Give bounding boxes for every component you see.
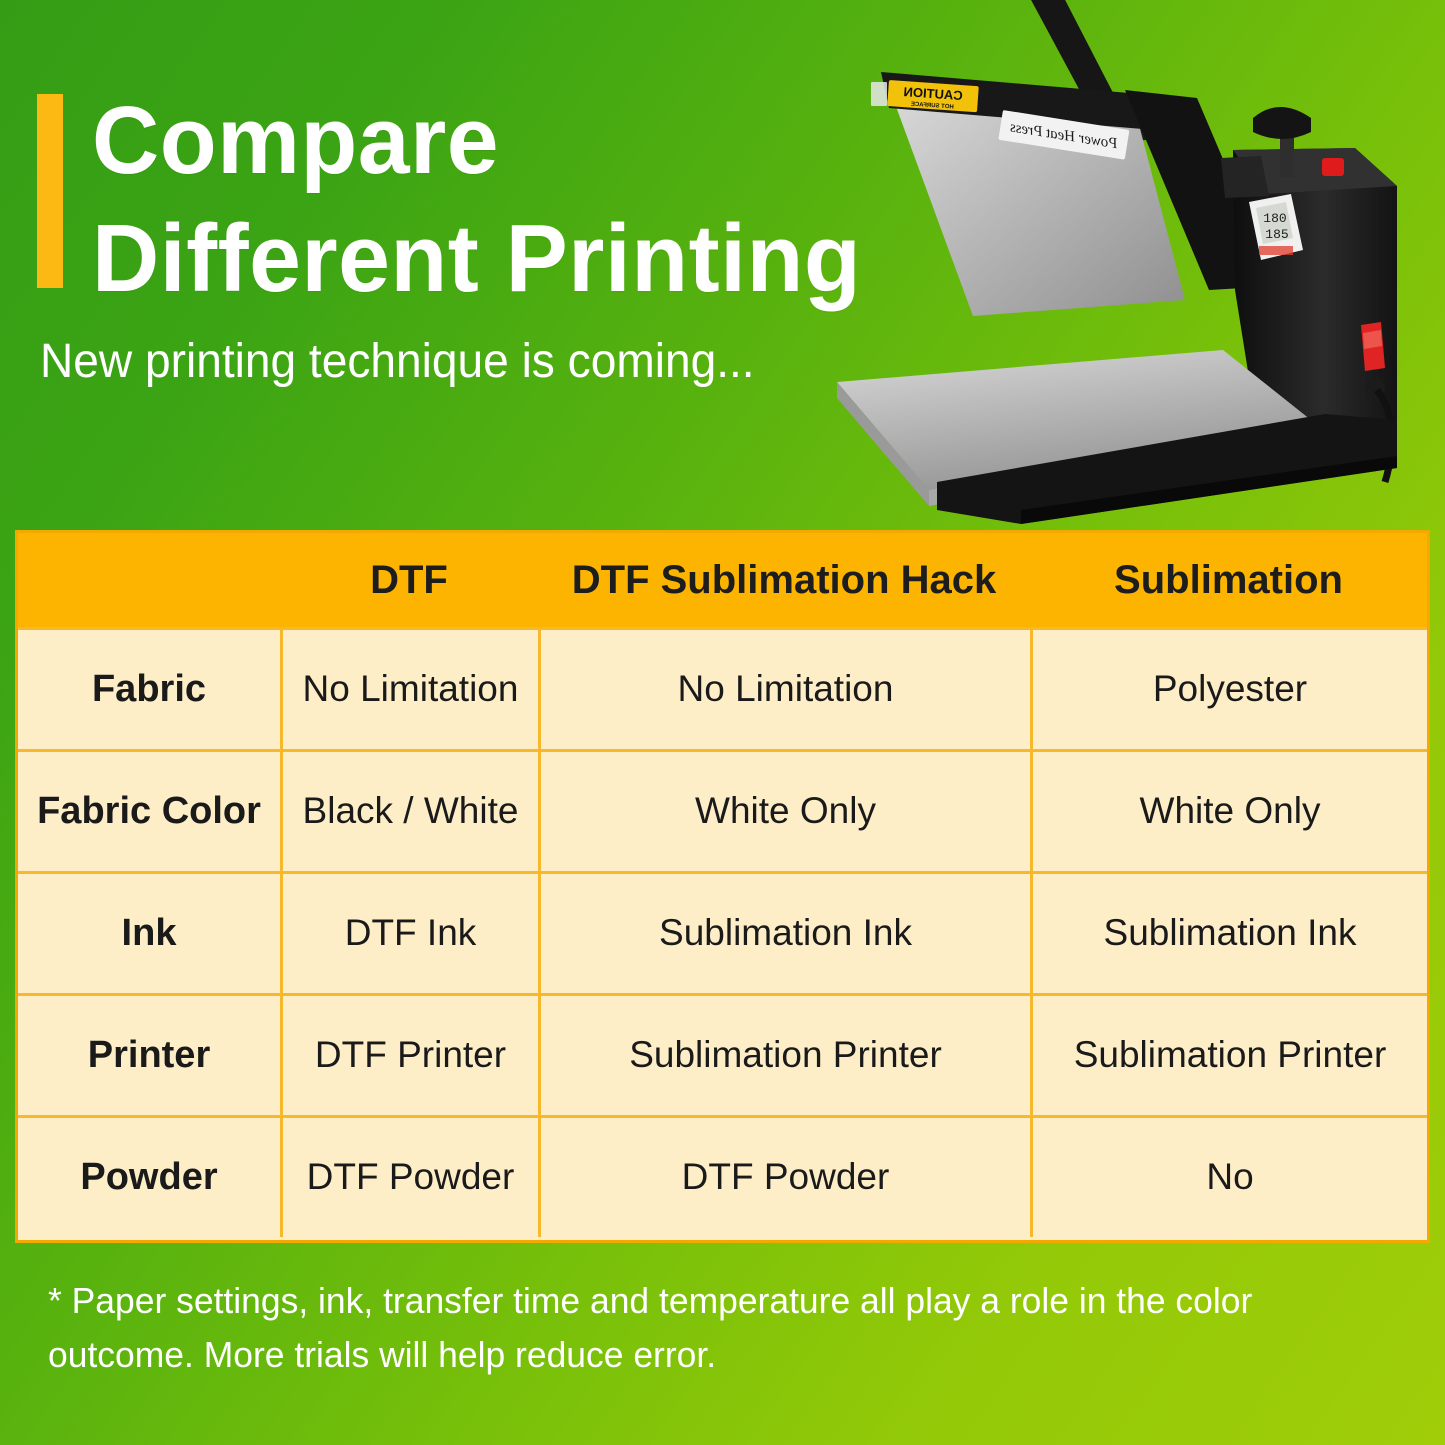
title-accent-bar <box>37 94 63 288</box>
temperature-readout: 180 <box>1263 211 1286 226</box>
row-value-sublimation: Sublimation Ink <box>1030 874 1427 993</box>
table-header-sublimation: Sublimation <box>1030 533 1427 627</box>
row-value-sublimation: Polyester <box>1030 630 1427 749</box>
row-label: Powder <box>18 1118 280 1237</box>
table-row: Printer DTF Printer Sublimation Printer … <box>18 993 1427 1115</box>
table-header-row: DTF DTF Sublimation Hack Sublimation <box>18 533 1427 627</box>
infographic-poster: Compare Different Printing New printing … <box>0 0 1445 1445</box>
hero-section: Compare Different Printing New printing … <box>0 0 1445 530</box>
row-value-sublimation: White Only <box>1030 752 1427 871</box>
footnote-text: * Paper settings, ink, transfer time and… <box>48 1274 1368 1382</box>
row-label: Fabric <box>18 630 280 749</box>
comparison-table: DTF DTF Sublimation Hack Sublimation Fab… <box>15 530 1430 1243</box>
row-value-hack: White Only <box>538 752 1030 871</box>
press-body-shoulder <box>1221 156 1269 198</box>
row-value-sublimation: No <box>1030 1118 1427 1237</box>
row-value-dtf: DTF Powder <box>280 1118 538 1237</box>
row-label: Fabric Color <box>18 752 280 871</box>
heat-press-machine-image: CAUTION HOT SURFACE Power Heat Press <box>825 0 1445 535</box>
table-header-dtf: DTF <box>280 533 538 627</box>
row-value-dtf: Black / White <box>280 752 538 871</box>
row-value-hack: DTF Powder <box>538 1118 1030 1237</box>
table-header-corner <box>18 533 280 627</box>
row-value-hack: Sublimation Ink <box>538 874 1030 993</box>
indicator-light <box>1322 158 1344 176</box>
row-value-hack: No Limitation <box>538 630 1030 749</box>
timer-readout: 185 <box>1265 227 1288 242</box>
heat-press-graphic: CAUTION HOT SURFACE Power Heat Press <box>825 0 1445 535</box>
row-value-hack: Sublimation Printer <box>538 996 1030 1115</box>
table-header-dtf-sublimation-hack: DTF Sublimation Hack <box>538 533 1030 627</box>
table-row: Powder DTF Powder DTF Powder No <box>18 1115 1427 1237</box>
row-label: Printer <box>18 996 280 1115</box>
row-value-dtf: DTF Printer <box>280 996 538 1115</box>
table-row: Fabric Color Black / White White Only Wh… <box>18 749 1427 871</box>
panel-brand-strip <box>1259 246 1293 255</box>
pressure-knob <box>1253 107 1311 139</box>
power-switch-glow <box>1363 330 1382 349</box>
row-value-sublimation: Sublimation Printer <box>1030 996 1427 1115</box>
row-label: Ink <box>18 874 280 993</box>
caution-side-sticker <box>871 82 887 106</box>
page-subtitle: New printing technique is coming... <box>40 331 755 393</box>
row-value-dtf: DTF Ink <box>280 874 538 993</box>
row-value-dtf: No Limitation <box>280 630 538 749</box>
table-row: Fabric No Limitation No Limitation Polye… <box>18 627 1427 749</box>
table-row: Ink DTF Ink Sublimation Ink Sublimation … <box>18 871 1427 993</box>
